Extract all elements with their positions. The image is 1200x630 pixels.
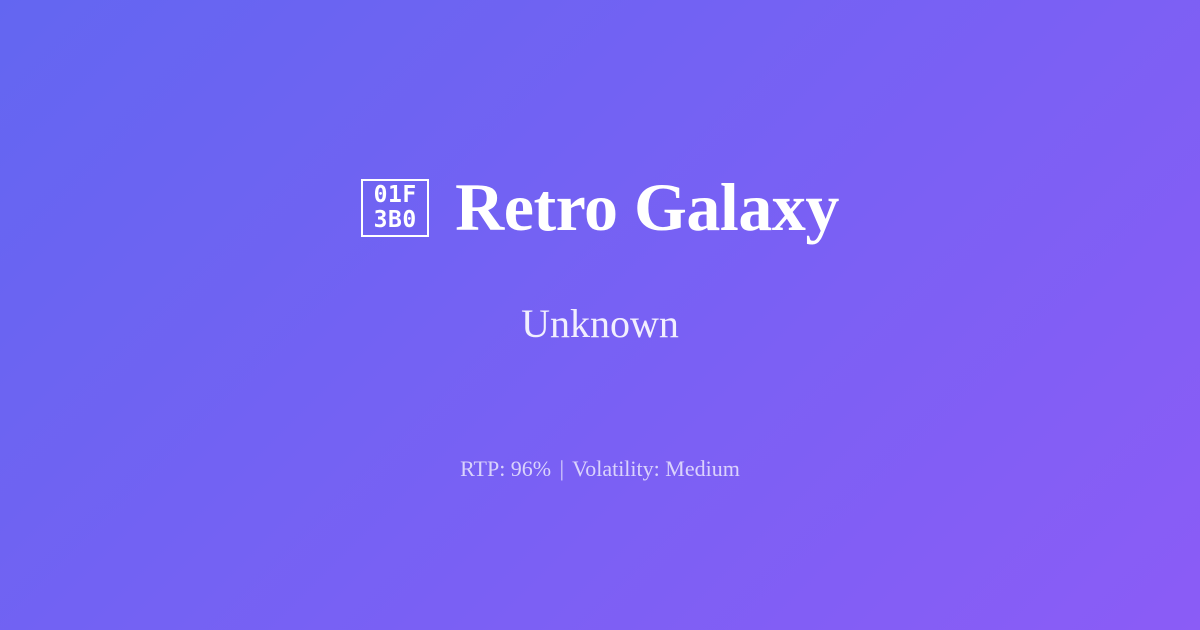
provider-label: Unknown	[521, 302, 679, 346]
page-title: Retro Galaxy	[455, 172, 839, 243]
stats-separator: |	[557, 456, 567, 481]
title-row: 01F 3B0 Retro Galaxy	[361, 172, 839, 243]
game-og-card: 01F 3B0 Retro Galaxy Unknown RTP: 96% | …	[0, 0, 1200, 630]
tofu-codepoint-top: 01F	[374, 183, 417, 208]
rtp-value: RTP: 96%	[460, 456, 551, 481]
stats-line: RTP: 96% | Volatility: Medium	[460, 456, 740, 482]
slot-machine-icon: 01F 3B0	[361, 179, 429, 237]
volatility-value: Volatility: Medium	[572, 456, 740, 481]
tofu-codepoint-bottom: 3B0	[374, 208, 417, 233]
